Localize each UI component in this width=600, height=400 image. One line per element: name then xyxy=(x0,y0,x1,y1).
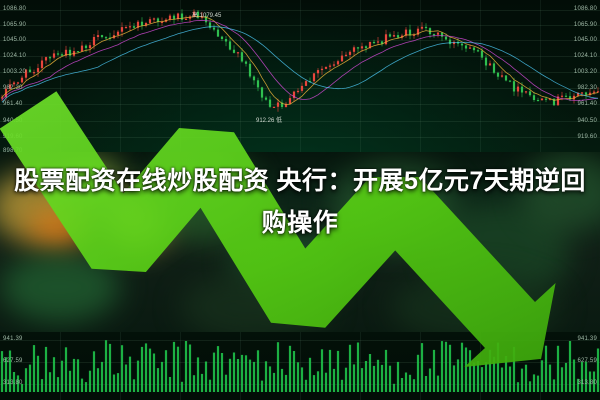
price-axis-label-left: 1045.00 xyxy=(3,37,26,43)
price-axis-label-right: 1024.10 xyxy=(574,53,597,59)
price-axis-label-right: 1065.90 xyxy=(574,22,597,28)
volume-axis-label-right: 941.39 xyxy=(577,336,597,342)
volume-axis-label-right: 627.59 xyxy=(577,358,597,364)
price-axis-label-left: 982.30 xyxy=(3,85,23,91)
volume-axis-label-left: 313.80 xyxy=(3,380,23,386)
price-axis-label-right: 1086.80 xyxy=(574,6,597,12)
price-axis-label-right: 919.60 xyxy=(577,134,597,140)
price-axis-label-left: 1065.90 xyxy=(3,22,26,28)
price-axis-label-left: 1003.20 xyxy=(3,69,26,75)
price-axis-label-right: 1045.00 xyxy=(574,37,597,43)
price-axis-label-right: 982.30 xyxy=(577,85,597,91)
volume-axis-label-left: 941.39 xyxy=(3,336,23,342)
price-axis-label-right: 1003.20 xyxy=(574,69,597,75)
volume-axis-label-left: 627.59 xyxy=(3,358,23,364)
chart-annotation-high: 高 1079.45 xyxy=(192,10,221,19)
candlestick-series xyxy=(0,0,600,152)
price-axis-label-right: 961.40 xyxy=(577,101,597,107)
price-chart-panel: 1086.80 1065.90 1045.00 1024.10 1003.20 … xyxy=(0,0,600,152)
price-axis-label-left: 1086.80 xyxy=(3,6,26,12)
image-canvas: 1086.80 1065.90 1045.00 1024.10 1003.20 … xyxy=(0,0,600,400)
volume-bar-series xyxy=(0,332,600,400)
headline-text: 股票配资在线炒股配资 央行：开展5亿元7天期逆回购操作 xyxy=(0,160,600,244)
volume-axis-label-right: 313.80 xyxy=(577,380,597,386)
volume-chart-panel: 941.39 627.59 313.80 941.39 627.59 313.8… xyxy=(0,332,600,400)
price-axis-label-left: 961.40 xyxy=(3,101,23,107)
price-axis-label-left: 940.50 xyxy=(3,118,23,124)
price-axis-label-right: 940.50 xyxy=(577,118,597,124)
bokeh-blob xyxy=(0,252,120,322)
price-axis-label-left: 919.60 xyxy=(3,134,23,140)
price-axis-label-left: 1024.10 xyxy=(3,53,26,59)
chart-annotation-low: 912.26 低 xyxy=(256,115,282,124)
